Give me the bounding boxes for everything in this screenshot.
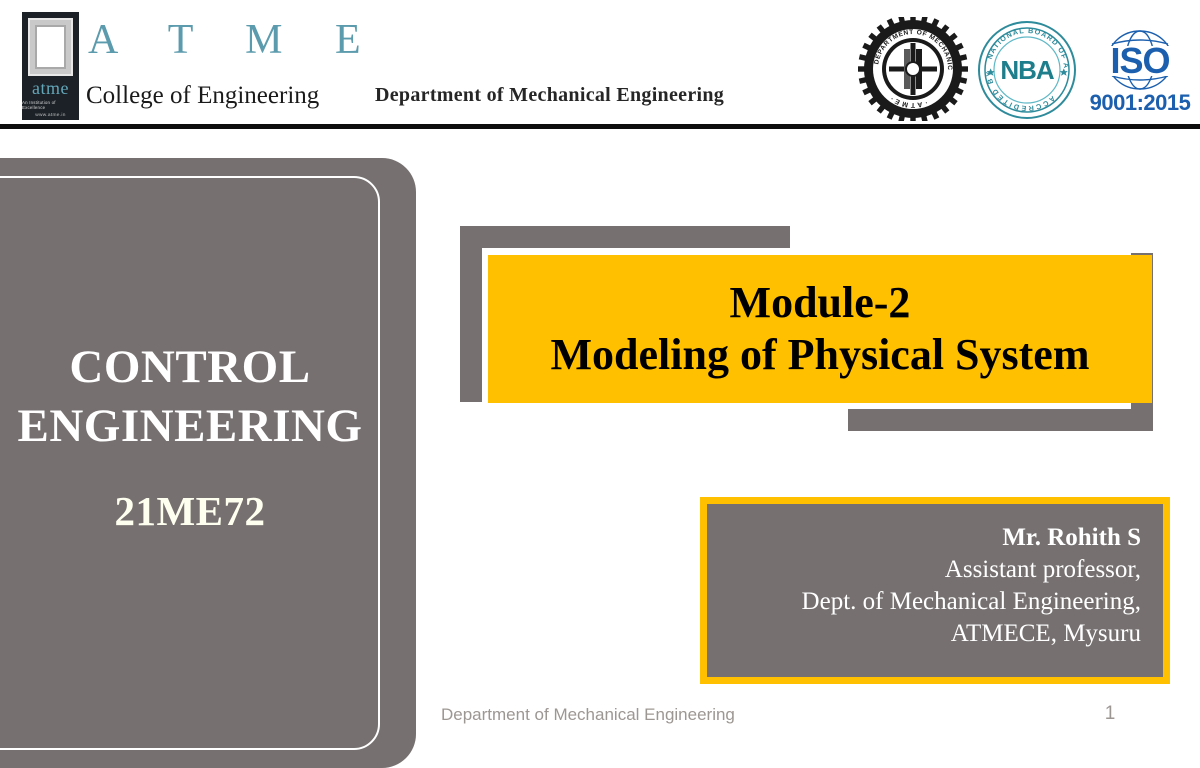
author-department: Dept. of Mechanical Engineering, [717,586,1141,618]
atme-logo-wordmark: atme [32,79,69,97]
bracket-vertical-bar [460,226,482,402]
course-panel-inner-border [0,176,380,750]
bracket-horizontal-bar [460,226,790,248]
atme-logo-tagline-1: An Institution of Excellence [22,100,79,111]
course-title: CONTROL ENGINEERING [0,338,410,456]
slide-header: atme An Institution of Excellence www.at… [0,0,1200,126]
slide-number: 1 [1095,703,1125,725]
atme-logo: atme An Institution of Excellence www.at… [22,12,79,120]
title-bracket-bottom-right [848,409,1153,431]
author-institution: ATMECE, Mysuru [717,618,1141,650]
svg-text:NBA: NBA [1000,55,1055,85]
atme-logo-frame-icon [28,18,73,76]
course-title-line-2: ENGINEERING [0,397,410,456]
author-info-box: Mr. Rohith S Assistant professor, Dept. … [700,497,1170,684]
svg-text:ISO: ISO [1110,40,1169,81]
atme-logo-tagline-2: www.atme.in [35,113,66,119]
course-title-line-1: CONTROL [0,338,410,397]
author-designation: Assistant professor, [717,554,1141,586]
header-divider [0,124,1200,129]
footer-department: Department of Mechanical Engineering [441,705,735,725]
module-label: Module-2 [730,279,911,327]
course-code: 21ME72 [0,487,410,535]
institution-abbreviation: A T M E [88,16,382,64]
iso-certification-icon: ISO 9001:2015 [1088,26,1192,118]
mechanical-engineering-gear-icon: DEPARTMENT OF MECHANICAL ENGINEERING·ATM… [858,17,968,121]
department-header: Department of Mechanical Engineering [375,84,724,107]
nba-accreditation-seal-icon: NATIONAL BOARD OF ACCREDITATION ACCREDIT… [977,20,1077,120]
module-title-box: Module-2 Modeling of Physical System [488,255,1152,403]
college-name: College of Engineering [86,82,319,110]
module-title: Modeling of Physical System [551,331,1090,379]
author-name: Mr. Rohith S [717,522,1141,554]
svg-text:9001:2015: 9001:2015 [1090,90,1191,115]
